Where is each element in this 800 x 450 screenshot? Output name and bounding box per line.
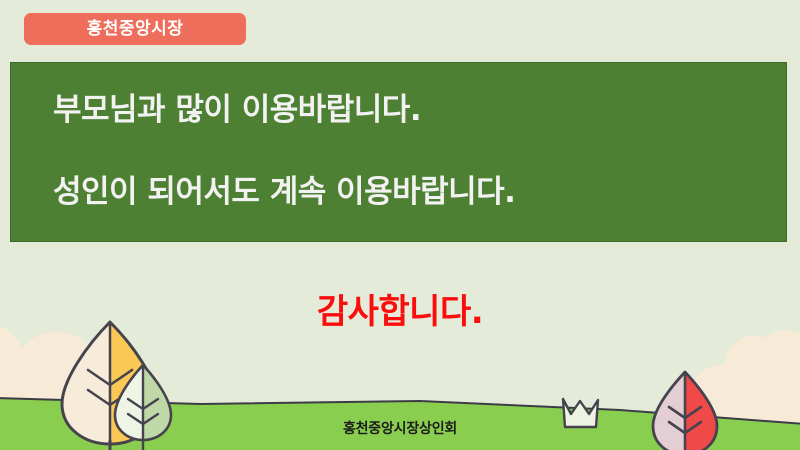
- tree-right-red-icon: [653, 372, 717, 450]
- thanks-block: 감사합니다.: [0, 295, 800, 329]
- presentation-slide: 홍천중앙시장 부모님과 많이 이용바랍니다. 성인이 되어서도 계속 이용바랍니…: [0, 0, 800, 450]
- footer-block: 홍천중앙시장상인회: [0, 418, 800, 437]
- organization-label: 홍천중앙시장상인회: [343, 421, 457, 437]
- thanks-label: 감사합니다.: [317, 292, 483, 332]
- market-title-badge: 홍천중앙시장: [24, 13, 246, 45]
- message-line-1: 부모님과 많이 이용바랍니다.: [53, 93, 786, 129]
- message-panel: 부모님과 많이 이용바랍니다. 성인이 되어서도 계속 이용바랍니다.: [10, 62, 787, 242]
- message-line-2: 성인이 되어서도 계속 이용바랍니다.: [53, 175, 786, 211]
- market-title-label: 홍천중앙시장: [87, 21, 184, 38]
- tree-small-green-icon: [115, 365, 171, 450]
